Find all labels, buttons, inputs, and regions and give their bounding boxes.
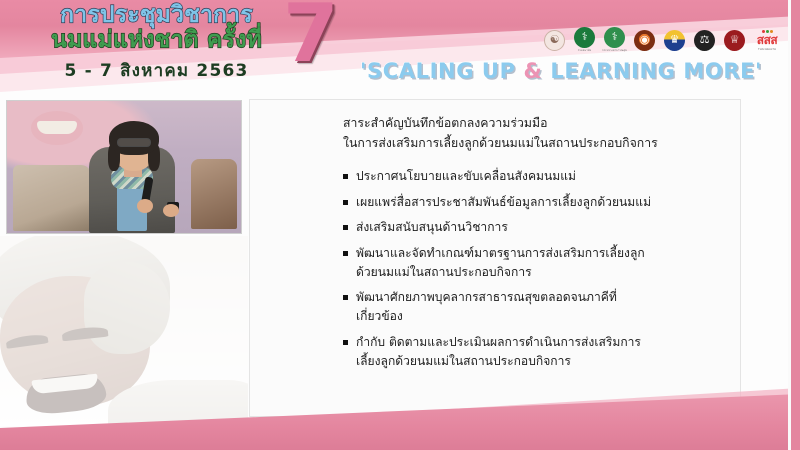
- list-item-line1: ส่งเสริมสนับสนุนด้านวิชาการ: [356, 220, 508, 234]
- backdrop-teeth-graphic: [37, 121, 77, 134]
- square-bullet-icon: [343, 295, 348, 300]
- slide-header: การประชุมวิชาการ นมแม่แห่งชาติ ครั้งที่ …: [0, 0, 800, 96]
- speaker-hand-left: [137, 199, 153, 213]
- presentation-slide: การประชุมวิชาการ นมแม่แห่งชาติ ครั้งที่ …: [0, 0, 800, 450]
- royal-college-logo: ◉: [632, 25, 657, 55]
- health-department-logo-caption: กระทรวงสาธารณสุข: [602, 49, 627, 53]
- royal-emblem-logo: ☯: [542, 25, 567, 55]
- list-item: ส่งเสริมสนับสนุนด้านวิชาการ: [343, 218, 735, 237]
- commitment-bullet-list: ประกาศนโยบายและขับเคลื่อนสังคมนมแม่ เผยแ…: [343, 167, 735, 371]
- child-photo-layers: [0, 236, 248, 426]
- square-bullet-icon: [343, 225, 348, 230]
- list-item: พัฒนาศักยภาพบุคลากรสาธารณสุขตลอดจนภาคีที…: [343, 288, 735, 325]
- list-item-line1: เผยแพร่สื่อสารประชาสัมพันธ์ข้อมูลการเลี้…: [356, 195, 651, 209]
- sponsor-logo-strip: ☯ ⚕กรมอนามัย ⚕กระทรวงสาธารณสุข ◉ ♛ ⚖ ♕ ส…: [542, 25, 782, 55]
- list-item-text: พัฒนาศักยภาพบุคลากรสาธารณสุขตลอดจนภาคีที…: [356, 288, 617, 325]
- speaker-video-thumbnail[interactable]: [6, 100, 242, 234]
- list-item-line2: ด้วยนมแม่ในสถานประกอบกิจการ: [356, 263, 645, 282]
- list-item-text: พัฒนาและจัดทำเกณฑ์มาตรฐานการส่งเสริมการเ…: [356, 244, 645, 281]
- ministry-public-health-logo-caption: กรมอนามัย: [578, 49, 592, 53]
- list-item-line1: ประกาศนโยบายและขับเคลื่อนสังคมนมแม่: [356, 169, 576, 183]
- media-column: [0, 96, 248, 426]
- child-hat-brim: [84, 262, 170, 354]
- health-department-logo: ⚕กระทรวงสาธารณสุข: [602, 25, 627, 55]
- thaihealth-logo-word: สสส: [757, 34, 777, 46]
- square-bullet-icon: [343, 340, 348, 345]
- list-item-text: กำกับ ติดตามและประเมินผลการดำเนินการส่งเ…: [356, 333, 641, 370]
- list-item: กำกับ ติดตามและประเมินผลการดำเนินการส่งเ…: [343, 333, 735, 370]
- list-item: ประกาศนโยบายและขับเคลื่อนสังคมนมแม่: [343, 167, 735, 186]
- chair-right: [191, 159, 237, 229]
- square-bullet-icon: [343, 174, 348, 179]
- red-garuda-logo: ♕: [722, 25, 747, 55]
- list-item-line2: เกี่ยวข้อง: [356, 307, 617, 326]
- thaihealth-logo-sub: THAI HEALTH: [758, 47, 776, 51]
- content-heading-line1: สาระสำคัญบันทึกข้อตกลงความร่วมมือ: [343, 114, 735, 134]
- list-item-text: ประกาศนโยบายและขับเคลื่อนสังคมนมแม่: [356, 167, 576, 186]
- edition-number: 7: [283, 0, 339, 74]
- tagline-part-1: 'SCALING UP: [360, 59, 524, 83]
- square-bullet-icon: [343, 251, 348, 256]
- list-item: พัฒนาและจัดทำเกณฑ์มาตรฐานการส่งเสริมการเ…: [343, 244, 735, 281]
- university-crest-logo: ♛: [662, 25, 687, 55]
- ministry-public-health-logo: ⚕กรมอนามัย: [572, 25, 597, 55]
- list-item: เผยแพร่สื่อสารประชาสัมพันธ์ข้อมูลการเลี้…: [343, 193, 735, 212]
- conference-title-block: การประชุมวิชาการ นมแม่แห่งชาติ ครั้งที่ …: [14, 3, 299, 84]
- list-item-line2: เลี้ยงลูกด้วยนมแม่ในสถานประกอบกิจการ: [356, 352, 641, 371]
- chair-left: [13, 165, 91, 231]
- smiling-child-background-photo: [0, 236, 248, 426]
- list-item-line1: พัฒนาและจัดทำเกณฑ์มาตรฐานการส่งเสริมการเ…: [356, 246, 645, 260]
- content-heading-line2: ในการส่งเสริมการเลี้ยงลูกด้วยนมแม่ในสถาน…: [343, 134, 735, 154]
- conference-title-line2: นมแม่แห่งชาติ ครั้งที่: [14, 28, 299, 54]
- list-item-line1: กำกับ ติดตามและประเมินผลการดำเนินการส่งเ…: [356, 335, 641, 349]
- speaker-glasses: [117, 138, 151, 147]
- black-seal-logo: ⚖: [692, 25, 717, 55]
- conference-tagline: 'SCALING UP & LEARNING MORE': [360, 59, 762, 83]
- tagline-ampersand: &: [524, 59, 543, 83]
- conference-title-line1: การประชุมวิชาการ: [14, 3, 299, 28]
- square-bullet-icon: [343, 200, 348, 205]
- list-item-text: เผยแพร่สื่อสารประชาสัมพันธ์ข้อมูลการเลี้…: [356, 193, 651, 212]
- content-panel: สาระสำคัญบันทึกข้อตกลงความร่วมมือ ในการส…: [249, 99, 741, 417]
- content-inner: สาระสำคัญบันทึกข้อตกลงความร่วมมือ ในการส…: [343, 114, 735, 377]
- tagline-part-2: LEARNING MORE': [542, 59, 762, 83]
- list-item-text: ส่งเสริมสนับสนุนด้านวิชาการ: [356, 218, 508, 237]
- list-item-line1: พัฒนาศักยภาพบุคลากรสาธารณสุขตลอดจนภาคีที…: [356, 290, 617, 304]
- conference-date: 5 - 7 สิงหาคม 2563: [14, 57, 299, 84]
- speaker-hand-right: [163, 204, 179, 217]
- thaihealth-logo: สสส THAI HEALTH: [752, 25, 782, 55]
- right-edge-band: [791, 0, 800, 450]
